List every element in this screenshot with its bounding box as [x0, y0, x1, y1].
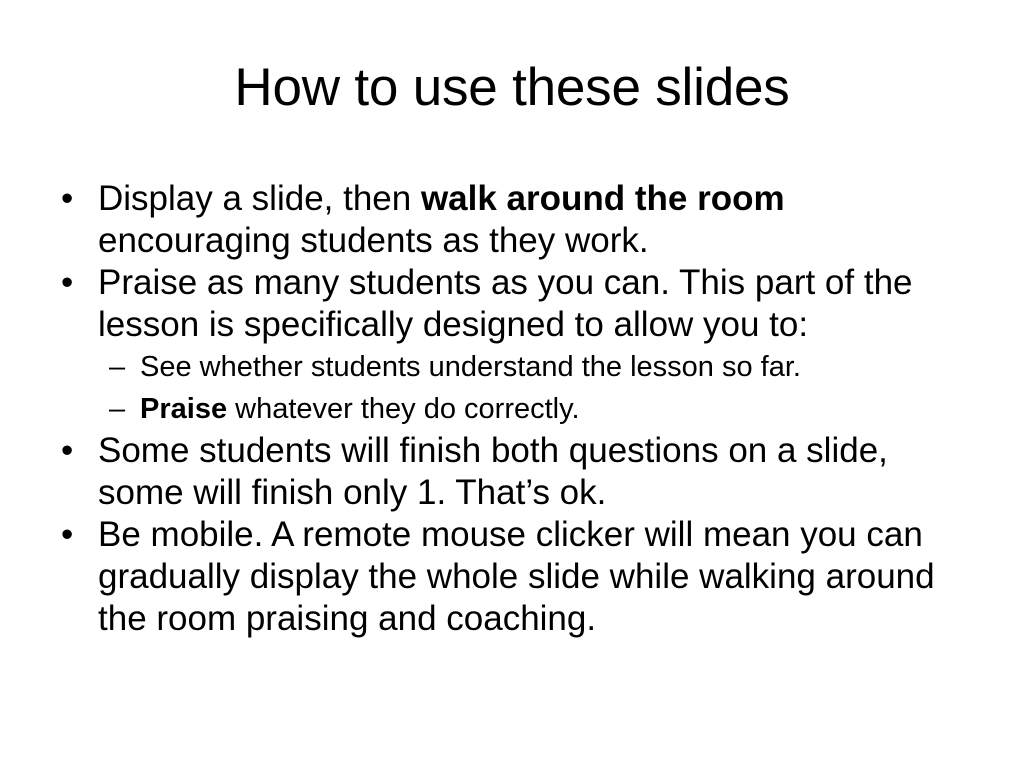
dash-marker-icon: –	[109, 346, 131, 388]
dash-marker-icon: –	[109, 388, 131, 430]
sub-bullet-text: See whether students understand the less…	[140, 351, 801, 383]
bullet-text: Praise as many students as you can. This…	[98, 262, 977, 346]
sub-bullet-text-plain-tail: whatever they do correctly.	[227, 393, 579, 425]
bullet-item: • Some students will finish both questio…	[57, 430, 977, 514]
sub-list-container: – See whether students understand the le…	[57, 346, 977, 430]
slide-canvas: How to use these slides • Display a slid…	[0, 0, 1024, 768]
bullet-text-plain-tail: encouraging students as they work.	[98, 221, 649, 260]
bullet-marker-icon: •	[61, 514, 85, 556]
sub-bullet-text-emphasis: Praise	[140, 393, 227, 425]
bullet-text: Some students will finish both questions…	[98, 430, 977, 514]
slide-sub-list: – See whether students understand the le…	[57, 346, 977, 430]
sub-bullet-text: Praise whatever they do correctly.	[140, 393, 580, 425]
bullet-text-plain-lead: Display a slide, then	[98, 179, 421, 218]
bullet-item: • Praise as many students as you can. Th…	[57, 262, 977, 346]
bullet-item: • Display a slide, then walk around the …	[57, 178, 977, 262]
bullet-text-emphasis: walk around the room	[421, 179, 785, 218]
slide-title: How to use these slides	[0, 57, 1024, 119]
bullet-item: • Be mobile. A remote mouse clicker will…	[57, 514, 977, 640]
sub-bullet-item: – Praise whatever they do correctly.	[57, 388, 977, 430]
bullet-text: Display a slide, then walk around the ro…	[98, 178, 977, 262]
bullet-marker-icon: •	[61, 262, 85, 304]
sub-bullet-item: – See whether students understand the le…	[57, 346, 977, 388]
bullet-marker-icon: •	[61, 178, 85, 220]
slide-body-list: • Display a slide, then walk around the …	[57, 178, 977, 640]
bullet-marker-icon: •	[61, 430, 85, 472]
bullet-text: Be mobile. A remote mouse clicker will m…	[98, 514, 977, 640]
